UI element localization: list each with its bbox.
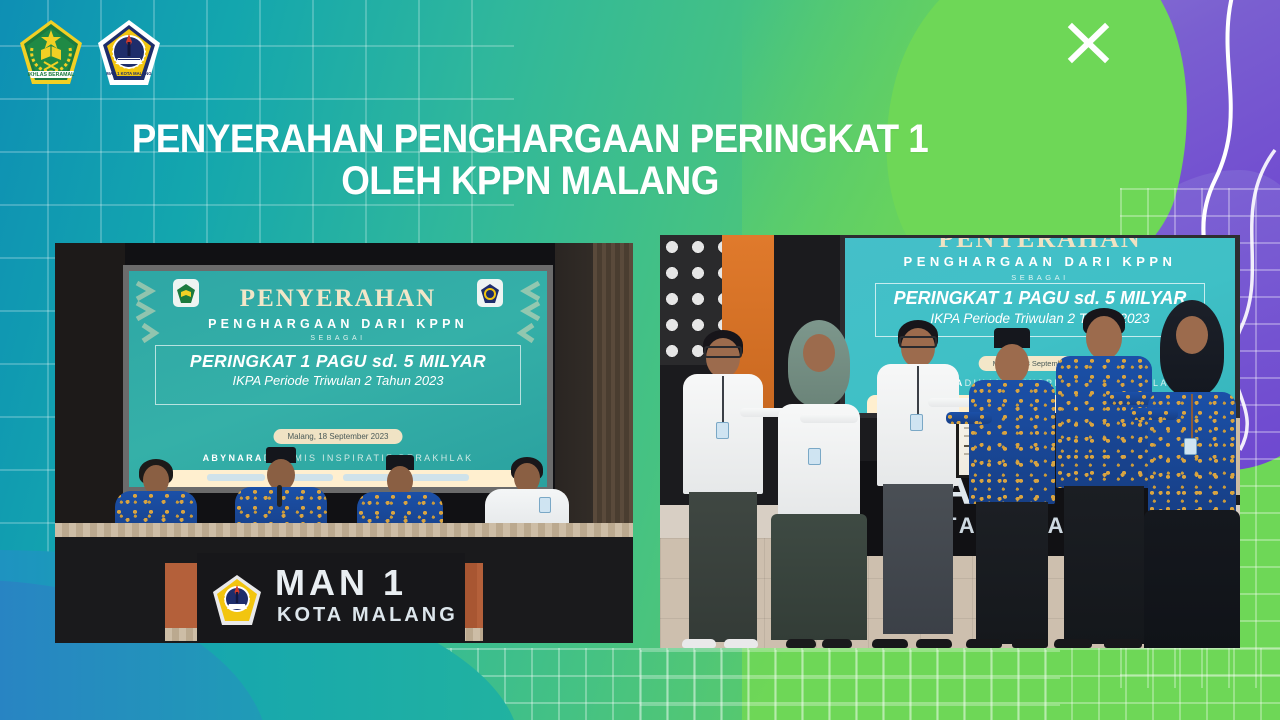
photo-left[interactable]: PENYERAHAN PENGHARGAAN DARI KPPN SEBAGAI… — [55, 243, 633, 643]
slide-right-heading: PENYERAHAN — [845, 238, 1235, 254]
man1-logo-icon: MAN 1 KOTA MALANG — [96, 18, 162, 88]
x-mark-icon — [1067, 21, 1111, 65]
table-top-edge — [55, 523, 633, 537]
microphone-icon — [277, 485, 282, 507]
id-card-icon — [539, 497, 551, 513]
svg-text:MAN 1 KOTA MALANG: MAN 1 KOTA MALANG — [106, 71, 151, 76]
kemenag-logo-icon: IKHLAS BERAMAL — [18, 18, 84, 88]
slide-right-subheading: PENGHARGAAN DARI KPPN — [845, 254, 1235, 269]
slide-period-text: IKPA Periode Triwulan 2 Tahun 2023 — [129, 373, 547, 388]
title-line-1: PENYERAHAN PENGHARGAAN PERINGKAT 1 — [42, 118, 1017, 160]
poster-canvas: IKHLAS BERAMAL MAN 1 KOTA MALANG PENYERA… — [0, 0, 1280, 720]
eyeglasses-icon — [704, 346, 742, 358]
slide-award-text: PERINGKAT 1 PAGU sd. 5 MILYAR — [129, 351, 547, 372]
photo-right[interactable]: PENYERAHAN PENGHARGAAN DARI KPPN SEBAGAI… — [660, 235, 1240, 648]
slide-footer-bar — [147, 470, 529, 487]
eyeglasses-icon — [899, 336, 937, 348]
person-official-3 — [1140, 300, 1240, 648]
wall-wood-strip — [593, 243, 633, 543]
poster-title: PENYERAHAN PENGHARGAAN PERINGKAT 1 OLEH … — [0, 118, 1060, 203]
slide-right-as-label: SEBAGAI — [845, 273, 1235, 282]
person-staff-1 — [674, 330, 772, 648]
slide-subheading: PENGHARGAAN DARI KPPN — [129, 317, 547, 331]
slide-as-label: SEBAGAI — [129, 335, 547, 342]
slide-left: PENYERAHAN PENGHARGAAN DARI KPPN SEBAGAI… — [129, 271, 547, 487]
podium-line-1: MAN 1 — [275, 565, 407, 601]
person-staff-2 — [764, 318, 874, 648]
slide-date-chip: Malang, 18 September 2023 — [274, 429, 403, 444]
logo-row: IKHLAS BERAMAL MAN 1 KOTA MALANG — [18, 18, 162, 88]
title-line-2: OLEH KPPN MALANG — [42, 160, 1017, 202]
podium-sign: MAN 1 KOTA MALANG — [197, 553, 465, 643]
podium-line-2: KOTA MALANG — [277, 605, 458, 625]
slide-heading: PENYERAHAN — [129, 285, 547, 313]
podium-man1-logo-icon — [211, 573, 263, 627]
person-staff-3 — [866, 320, 970, 648]
slide-footer-links — [147, 474, 529, 481]
svg-text:IKHLAS BERAMAL: IKHLAS BERAMAL — [28, 72, 76, 78]
